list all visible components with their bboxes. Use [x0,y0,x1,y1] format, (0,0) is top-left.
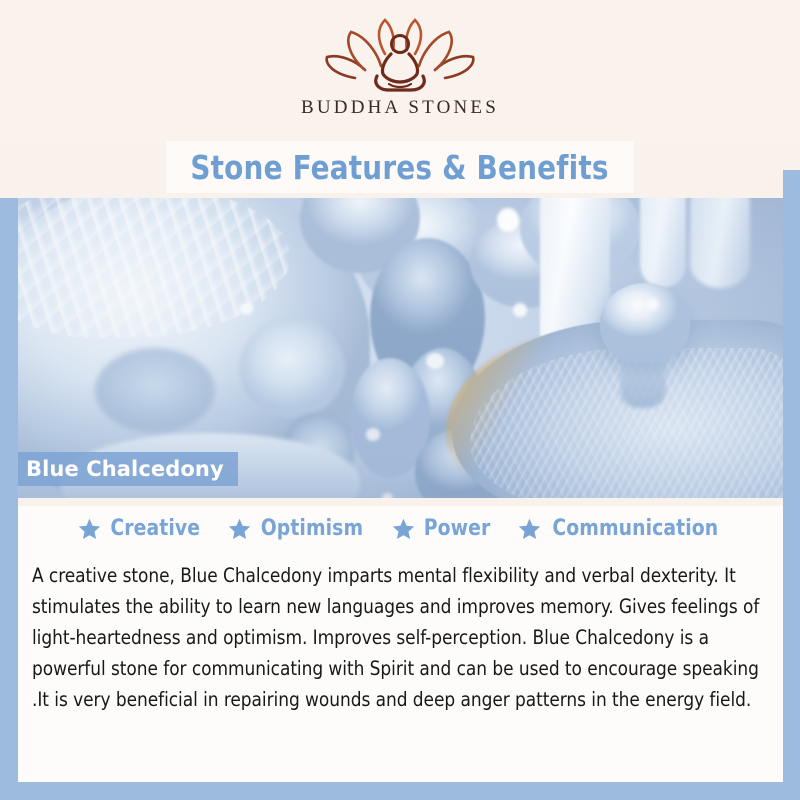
star-icon [392,518,415,540]
brand-header: BUDDHA STONES [0,0,800,143]
infographic-page: BUDDHA STONES Stone Features & Benefits [0,0,800,800]
feature-label: Communication [553,516,719,541]
right-accent-band [783,170,800,782]
left-accent-band [0,198,18,782]
feature-label: Creative [110,516,200,541]
stone-description: A creative stone, Blue Chalcedony impart… [32,560,763,715]
bottom-accent-band [0,782,800,800]
feature-item-communication: Communication [518,516,723,541]
star-icon [518,518,541,540]
feature-item-optimism: Optimism [228,516,366,541]
title-banner: Stone Features & Benefits [166,141,634,193]
content-card: Creative Optimism Power Communication [18,498,783,782]
feature-list: Creative Optimism Power Communication [18,516,783,541]
page-title: Stone Features & Benefits [191,148,609,187]
brand-name: BUDDHA STONES [301,97,499,119]
stone-name-label: Blue Chalcedony [26,457,224,481]
feature-item-creative: Creative [78,516,202,541]
feature-item-power: Power [392,516,492,541]
star-icon [78,518,101,540]
star-icon [228,518,251,540]
feature-label: Power [424,516,491,541]
lotus-meditating-figure-icon [315,14,485,96]
card-top-tint [18,498,783,506]
stone-name-badge: Blue Chalcedony [10,452,238,486]
brand-logo: BUDDHA STONES [301,14,499,119]
feature-label: Optimism [261,516,363,541]
